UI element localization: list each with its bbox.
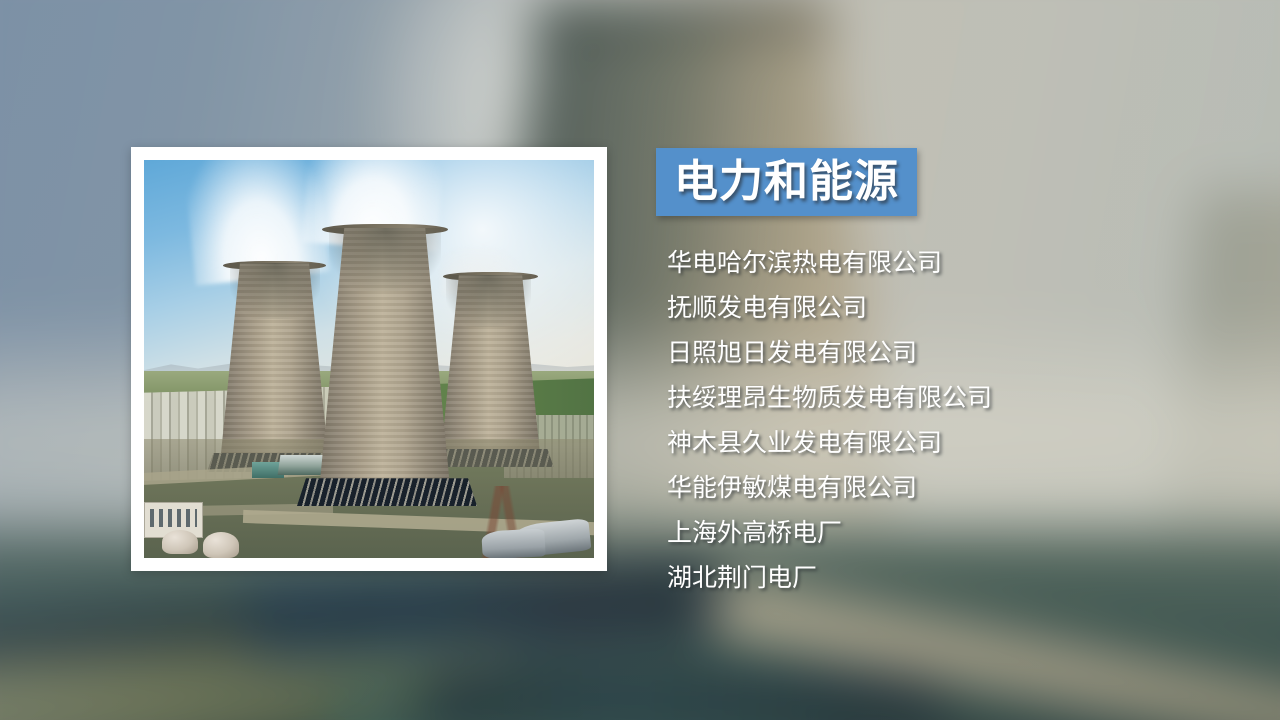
- list-item: 扶绥理昂生物质发电有限公司: [667, 375, 1227, 420]
- list-item: 抚顺发电有限公司: [667, 285, 1227, 330]
- slide-canvas: 电力和能源 华电哈尔滨热电有限公司 抚顺发电有限公司 日照旭日发电有限公司 扶绥…: [0, 0, 1280, 720]
- list-item: 上海外高桥电厂: [667, 510, 1227, 555]
- list-item: 华能伊敏煤电有限公司: [667, 465, 1227, 510]
- photo-card: [131, 147, 607, 571]
- cooling-tower-center-stain: [329, 228, 442, 292]
- power-plant-photo: [144, 160, 594, 558]
- list-item: 湖北荆门电厂: [667, 555, 1227, 600]
- list-item: 神木县久业发电有限公司: [667, 420, 1227, 465]
- page-title: 电力和能源: [674, 160, 899, 204]
- company-list: 华电哈尔滨热电有限公司 抚顺发电有限公司 日照旭日发电有限公司 扶绥理昂生物质发…: [667, 240, 1227, 600]
- photo-storage-tank-2: [203, 532, 239, 558]
- photo-storage-tank-1: [162, 530, 198, 554]
- title-banner: 电力和能源: [656, 148, 917, 216]
- list-item: 华电哈尔滨热电有限公司: [667, 240, 1227, 285]
- cooling-tower-right-stain: [446, 275, 532, 327]
- background-cooling-tower-base: [402, 671, 962, 720]
- photo-duct-2: [481, 529, 545, 558]
- cooling-tower-left-stain: [230, 263, 320, 319]
- list-item: 日照旭日发电有限公司: [667, 330, 1227, 375]
